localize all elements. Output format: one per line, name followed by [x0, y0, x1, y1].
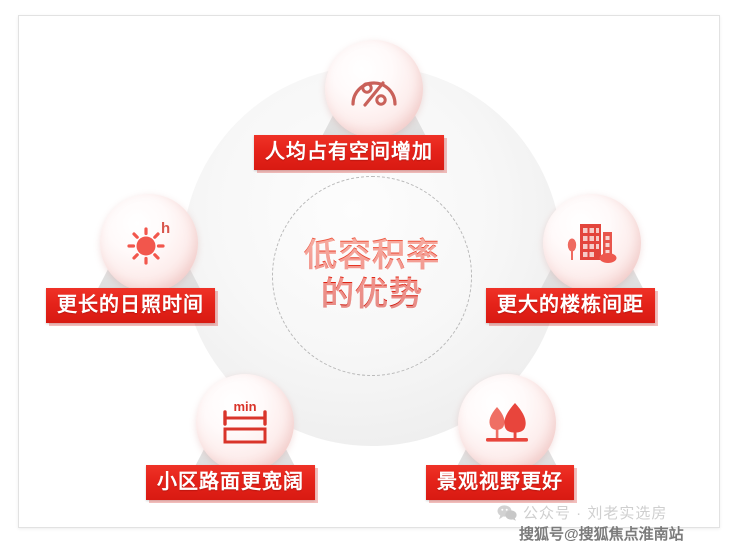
node-bottomright[interactable] — [458, 374, 556, 472]
sphere-bottomleft: min — [196, 374, 294, 472]
banner-top[interactable]: 人均占有空间增加 — [254, 135, 444, 170]
node-right[interactable] — [543, 194, 641, 292]
banner-bottomleft[interactable]: 小区路面更宽阔 — [146, 465, 315, 500]
watermark-sohu: 搜狐号@搜狐焦点淮南站 — [519, 523, 684, 544]
watermark-wechat: 公众号 · 刘老实选房 — [497, 502, 667, 523]
infographic-root: 低容积率 的优势 人均占有空间增加 — [0, 0, 740, 547]
trees-landscape-icon — [478, 397, 536, 449]
banner-bottomright[interactable]: 景观视野更好 — [426, 465, 574, 500]
center-title-line1: 低容积率 — [304, 236, 440, 273]
node-bottomleft[interactable]: min — [196, 374, 294, 472]
percent-gauge-icon — [347, 64, 401, 114]
banner-right[interactable]: 更大的楼栋间距 — [486, 288, 655, 323]
sphere-top — [325, 40, 423, 138]
sphere-left: h — [100, 194, 198, 292]
watermark-wechat-text: 公众号 · 刘老实选房 — [523, 502, 667, 523]
buildings-spacing-icon — [563, 216, 621, 270]
sphere-bottomright — [458, 374, 556, 472]
sun-hours-icon-text: h — [161, 220, 170, 237]
diagram-stage: 低容积率 的优势 人均占有空间增加 — [0, 0, 740, 547]
banner-left[interactable]: 更长的日照时间 — [46, 288, 215, 323]
road-width-min-icon: min — [214, 397, 276, 449]
wechat-icon — [497, 504, 517, 521]
node-top[interactable] — [325, 40, 423, 138]
node-left[interactable]: h — [100, 194, 198, 292]
sun-hours-icon: h — [121, 216, 177, 270]
center-title: 低容积率 的优势 — [262, 236, 482, 314]
sphere-right — [543, 194, 641, 292]
center-title-line2: 的优势 — [262, 275, 482, 314]
road-width-min-icon-text: min — [233, 399, 256, 414]
